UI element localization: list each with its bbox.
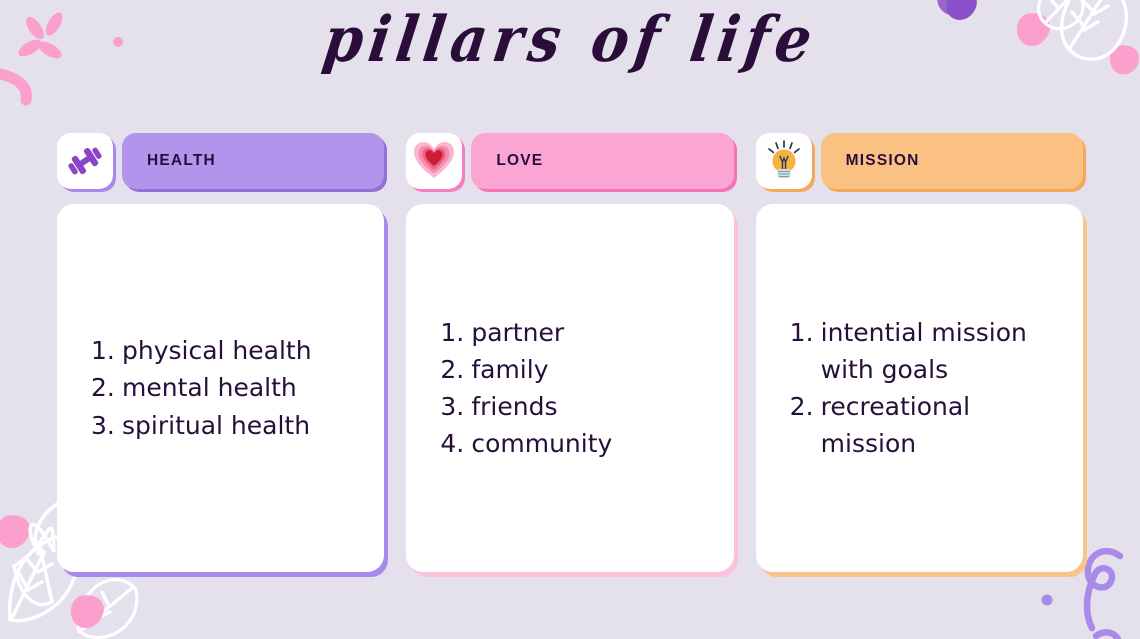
pillar-list-health: physical health mental health spiritual … — [91, 332, 370, 444]
list-item: friends — [440, 388, 719, 425]
pillar-list-love: partner family friends community — [440, 314, 719, 463]
list-item: family — [440, 351, 719, 388]
pillar-label-love[interactable]: LOVE — [471, 133, 733, 189]
pillar-column-love: LOVE partner family friends community — [406, 133, 733, 572]
pillar-label-text: HEALTH — [147, 152, 216, 170]
pillar-label-text: LOVE — [496, 152, 543, 170]
pillar-label-health[interactable]: HEALTH — [122, 133, 384, 189]
swirl-bottom-right-lower — [1096, 632, 1118, 639]
list-item: mental health — [91, 369, 370, 406]
pillar-header-mission: MISSION — [756, 133, 1083, 195]
petal-pink-bottom-left-b — [71, 595, 104, 628]
dot-bottom-right — [1042, 595, 1053, 606]
pillar-header-health: HEALTH — [57, 133, 384, 195]
pillar-list-mission: intential mission with goals recreationa… — [790, 314, 1069, 463]
pillar-column-health: HEALTH physical health mental health spi… — [57, 133, 384, 572]
pillar-label-text: MISSION — [846, 152, 920, 170]
pillars-columns: HEALTH physical health mental health spi… — [57, 133, 1083, 572]
pillar-header-love: LOVE — [406, 133, 733, 195]
list-item: spiritual health — [91, 407, 370, 444]
page-title-wrap: pillars of life — [0, 10, 1140, 72]
leaf-bottom-left-small — [78, 580, 137, 638]
dumbbell-icon-tile — [57, 133, 113, 189]
dumbbell-icon — [66, 142, 104, 180]
swirl-bottom-right — [1087, 551, 1120, 628]
heart-icon-tile — [406, 133, 462, 189]
list-item: recreational mission — [790, 388, 1069, 463]
page-title: pillars of life — [319, 6, 822, 75]
arc-top-left — [0, 72, 26, 100]
pillar-column-mission: MISSION intential mission with goals rec… — [756, 133, 1083, 572]
list-item: physical health — [91, 332, 370, 369]
lightbulb-icon — [764, 140, 804, 182]
pillar-card-health: physical health mental health spiritual … — [57, 204, 384, 572]
lightbulb-icon-tile — [756, 133, 812, 189]
petal-pink-bottom-left-a — [0, 515, 30, 548]
pillar-card-mission: intential mission with goals recreationa… — [756, 204, 1083, 572]
list-item: intential mission with goals — [790, 314, 1069, 389]
list-item: partner — [440, 314, 719, 351]
pillar-card-love: partner family friends community — [406, 204, 733, 572]
pillar-label-mission[interactable]: MISSION — [821, 133, 1083, 189]
list-item: community — [440, 425, 719, 462]
heart-icon — [414, 142, 454, 180]
